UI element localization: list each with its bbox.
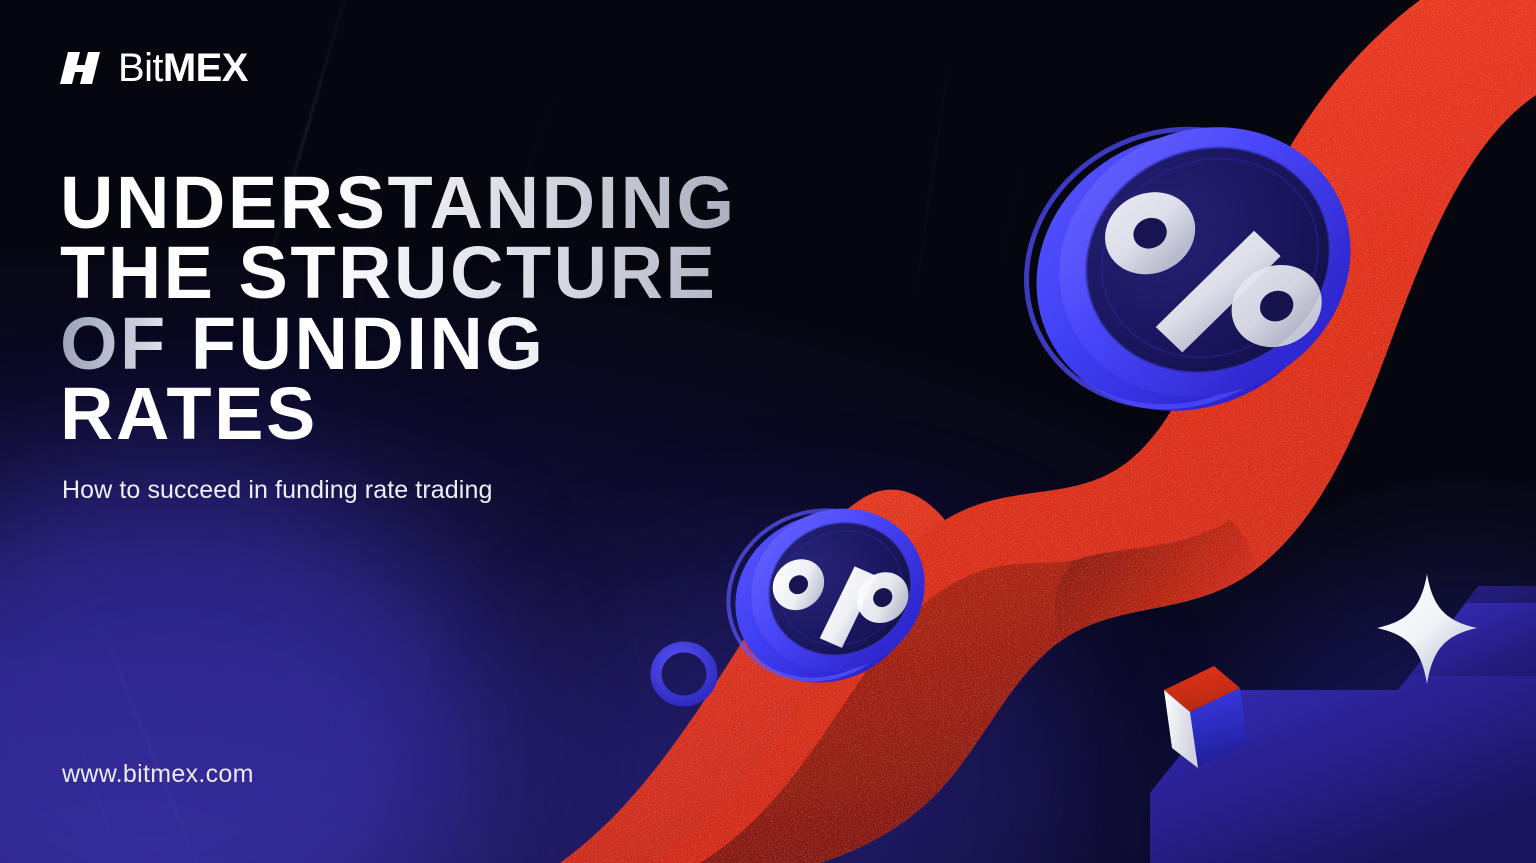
logo-text-bit: Bit <box>118 46 163 90</box>
headline-line-4: RATES <box>60 379 737 449</box>
bitmex-logo-mark <box>58 48 104 88</box>
headline-line-1: UNDERSTANDING <box>60 168 737 238</box>
site-url[interactable]: www.bitmex.com <box>62 760 254 789</box>
logo-text-mex: MEX <box>163 46 248 90</box>
headline-line-2: THE STRUCTURE <box>60 238 737 308</box>
small-blue-ring <box>656 647 712 701</box>
page-title: UNDERSTANDING THE STRUCTURE OF FUNDING R… <box>60 168 737 449</box>
headline-line-3: OF FUNDING <box>60 309 737 379</box>
promotional-banner: BitMEX UNDERSTANDING THE STRUCTURE OF FU… <box>0 0 1536 863</box>
bitmex-logo-text: BitMEX <box>118 48 248 88</box>
bitmex-logo[interactable]: BitMEX <box>58 48 248 88</box>
subtitle: How to succeed in funding rate trading <box>62 476 492 505</box>
